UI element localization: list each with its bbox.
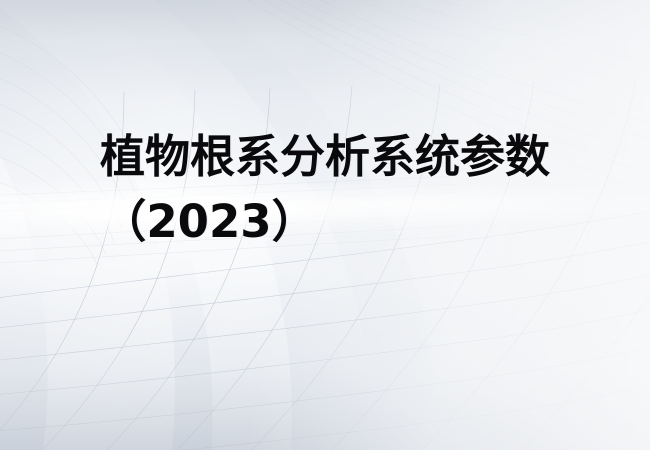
background-right-fade	[0, 0, 650, 450]
title-slide: 植物根系分析系统参数 （2023）	[0, 0, 650, 450]
